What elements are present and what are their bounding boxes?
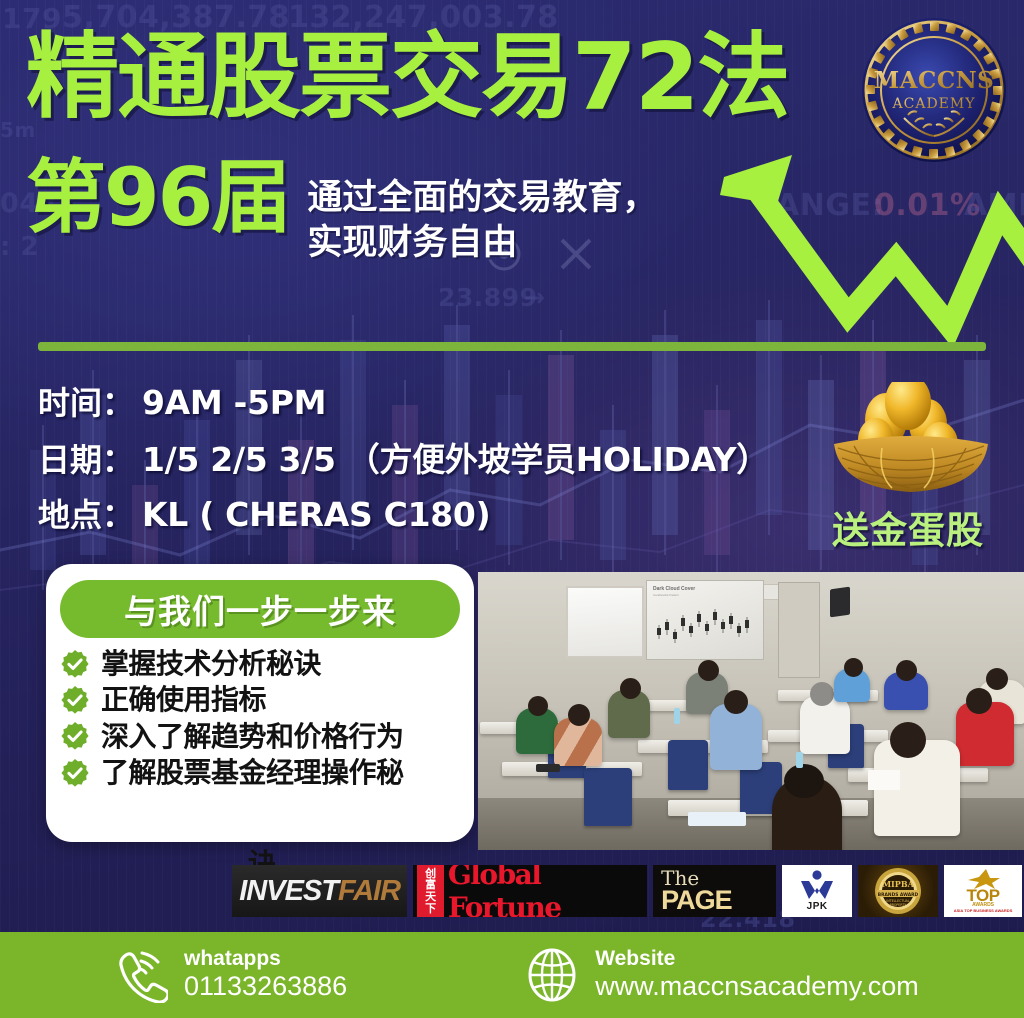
speaker	[830, 587, 850, 618]
list-item: 深入了解趋势和价格行为	[60, 721, 460, 752]
screen-title: Dark Cloud Cover	[653, 586, 695, 592]
svg-text:2022: 2022	[894, 907, 902, 911]
website-url: www.maccnsacademy.com	[595, 971, 919, 1002]
top-awards-top: TOP	[966, 889, 999, 903]
event-time-value: 9AM -5PM	[142, 383, 326, 422]
jpk-mark-icon	[799, 870, 835, 900]
svg-text:MIPBA: MIPBA	[882, 879, 914, 889]
projector-screen: Dark Cloud Cover Candlestick Pattern	[646, 580, 764, 660]
door	[778, 582, 820, 678]
investfair-part1: INVEST	[239, 875, 338, 908]
contact-website[interactable]: Website www.maccnsacademy.com	[525, 948, 919, 1002]
list-item: 正确使用指标	[60, 684, 460, 715]
the-page-logo: The PAGE	[653, 865, 776, 917]
svg-text:BRANDS AWARD: BRANDS AWARD	[878, 892, 919, 898]
event-time-label: 时间：	[38, 378, 134, 424]
jpk-label: JPK	[807, 901, 828, 912]
event-details: 时间： 9AM -5PM 日期： 1/5 2/5 3/5 （方便外坡学员HOLI…	[38, 378, 838, 545]
investfair-logo: INVESTFAIR	[232, 865, 407, 917]
page-title: 精通股票交易72法	[26, 32, 856, 123]
check-badge-icon	[60, 721, 90, 751]
check-badge-icon	[60, 649, 90, 679]
event-venue-value: KL ( CHERAS C180)	[142, 495, 490, 534]
event-row-time: 时间： 9AM -5PM	[38, 378, 838, 424]
maccns-academy-logo: MACCNS ACADEMY	[858, 14, 1010, 166]
event-venue-label: 地点：	[38, 490, 134, 536]
benefits-pill-label: 与我们一步一步来	[60, 580, 460, 638]
global-fortune-cn-line2: 天下	[420, 891, 441, 914]
promo-caption: 送金蛋股	[808, 500, 1008, 554]
svg-text:ACADEMY: ACADEMY	[892, 96, 976, 112]
up-trend-arrow-icon	[660, 155, 1024, 355]
global-fortune-cn-line1: 创富	[420, 868, 441, 891]
event-date-value: 1/5 2/5 3/5 （方便外坡学员HOLIDAY）	[142, 433, 769, 481]
whiteboard	[566, 586, 644, 658]
golden-eggs-nest-icon	[816, 382, 1006, 502]
event-date-label: 日期：	[38, 435, 134, 481]
global-fortune-en: Global Fortune	[448, 865, 647, 917]
contact-whatsapp[interactable]: whatapps 01133263886	[112, 947, 347, 1003]
benefit-text: 正确使用指标	[101, 684, 266, 715]
benefits-card: 与我们一步一步来 掌握技术分析秘诀 正确使用指标	[46, 564, 474, 842]
footer-contact-bar: whatapps 01133263886 Website www.maccnsa…	[0, 932, 1024, 1018]
check-badge-icon	[60, 758, 90, 788]
jpk-logo: JPK	[782, 865, 852, 917]
benefit-text: 了解股票基金经理操作秘	[101, 757, 404, 788]
event-row-date: 日期： 1/5 2/5 3/5 （方便外坡学员HOLIDAY）	[38, 433, 838, 481]
edition-number: 第96届	[26, 160, 289, 237]
website-label: Website	[595, 948, 919, 970]
benefits-list: 掌握技术分析秘诀 正确使用指标 深入了解趋势和价格行为	[60, 648, 460, 788]
benefit-text: 掌握技术分析秘诀	[101, 648, 321, 679]
classroom-training-photo: Dark Cloud Cover Candlestick Pattern	[478, 572, 1024, 850]
svg-text:MACCNS: MACCNS	[874, 67, 995, 94]
whatsapp-label: whatapps	[184, 948, 347, 970]
promotional-poster: 1795,704,387.78132,247,003.785m044: 2ANG…	[0, 0, 1024, 1018]
investfair-part2: FAIR	[338, 875, 400, 908]
check-badge-icon	[60, 685, 90, 715]
list-item: 掌握技术分析秘诀	[60, 648, 460, 679]
list-item: 了解股票基金经理操作秘	[60, 757, 460, 788]
benefit-text: 深入了解趋势和价格行为	[101, 721, 404, 752]
the-page-page: PAGE	[661, 888, 732, 912]
whatsapp-number: 01133263886	[184, 971, 347, 1002]
globe-icon	[525, 948, 579, 1002]
event-row-venue: 地点： KL ( CHERAS C180)	[38, 490, 838, 536]
tagline-line-2: 实现财务自由	[307, 221, 657, 266]
top-awards-logo: TOP AWARDS ASIA TOP BUSINESS AWARDS	[944, 865, 1022, 917]
mipba-brands-award-logo: MIPBA BRANDS AWARD INTELLECTUAL PROPERTY…	[858, 865, 938, 917]
partner-logos-strip: INVESTFAIR 创富 天下 Global Fortune The PAGE…	[232, 862, 1022, 920]
tagline: 通过全面的交易教育， 实现财务自由	[307, 160, 657, 266]
phone-ring-icon	[112, 947, 168, 1003]
global-fortune-cn: 创富 天下	[417, 865, 444, 917]
section-divider	[38, 342, 986, 351]
global-fortune-logo: 创富 天下 Global Fortune	[413, 865, 647, 917]
screen-subtitle: Candlestick Pattern	[653, 593, 679, 597]
tagline-line-1: 通过全面的交易教育，	[307, 176, 657, 221]
top-awards-sub: ASIA TOP BUSINESS AWARDS	[954, 909, 1013, 914]
